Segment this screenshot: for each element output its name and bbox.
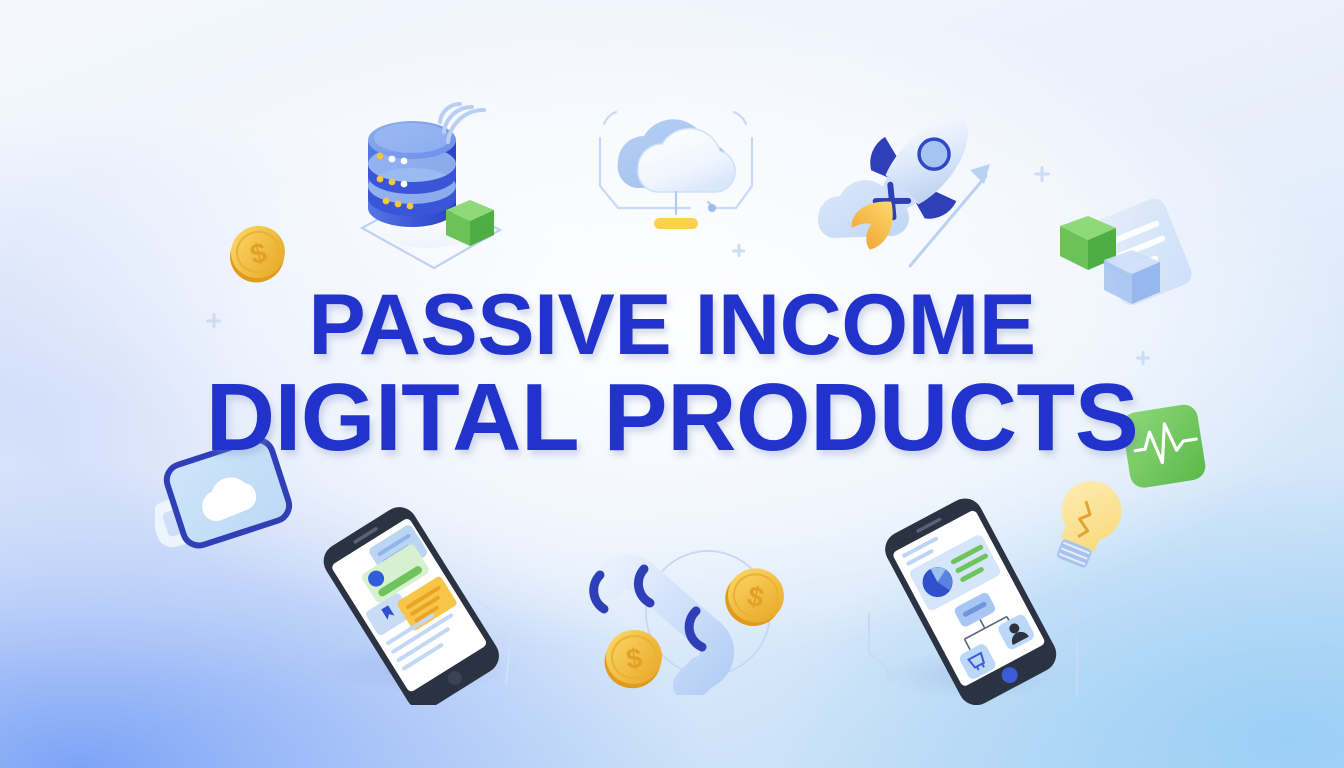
smartphone-content-svg <box>300 505 530 705</box>
rocket-body-group <box>821 87 1001 272</box>
gold-coin-icon: $ <box>222 216 294 288</box>
money-pipeline-svg: $ $ <box>578 525 808 695</box>
digital-wallet-svg <box>155 435 305 555</box>
pipeline-coin-left: $ <box>601 626 667 692</box>
sparkle-left-icon <box>206 313 221 328</box>
blockchain-cubes-svg <box>1032 190 1212 320</box>
sparkle-upper-right-icon <box>1034 166 1050 182</box>
digital-wallet-icon <box>155 435 305 555</box>
smartphone-dashboard-svg <box>855 495 1090 705</box>
money-pipeline-icon: $ $ <box>578 525 808 695</box>
smartphone-content-icon <box>300 505 530 705</box>
yellow-bar <box>654 218 698 229</box>
rocket-launch-svg <box>818 72 1018 272</box>
poster-canvas: $ <box>0 0 1344 768</box>
smartphone-dashboard-icon <box>855 495 1090 705</box>
cloud-network-icon <box>580 90 770 255</box>
rocket-launch-icon <box>818 72 1018 272</box>
db-cylinder <box>368 121 456 227</box>
database-server-svg <box>340 80 530 270</box>
database-server-icon <box>340 80 530 270</box>
network-node <box>708 204 716 212</box>
cloud-connector <box>676 192 714 214</box>
pipeline-coin-right: $ <box>720 563 789 632</box>
sparkle-center-icon <box>732 244 745 257</box>
cloud-network-svg <box>580 90 770 255</box>
gold-coin-svg: $ <box>222 216 294 288</box>
blockchain-cubes-icon <box>1032 190 1212 320</box>
sparkle-right-icon <box>1136 351 1150 365</box>
